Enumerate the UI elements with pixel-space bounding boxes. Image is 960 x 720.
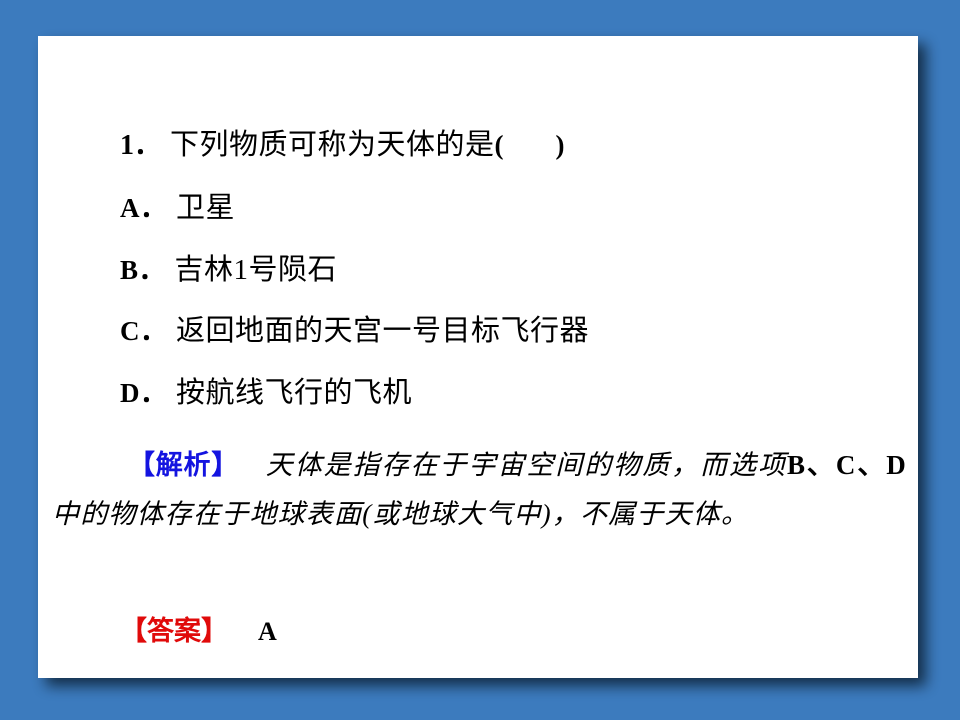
analysis-label: 【解析】 xyxy=(128,450,239,480)
analysis-options-list: B、C、D xyxy=(787,450,907,480)
analysis-text-part2: 中的物体存在于地球表面(或地球大气中)，不属于天体。 xyxy=(52,499,749,529)
analysis-paragraph: 【解析】天体是指存在于宇宙空间的物质，而选项B、C、D中的物体存在于地球表面(或… xyxy=(52,441,907,539)
option-c-marker: C xyxy=(120,316,140,346)
question-number: 1 xyxy=(120,130,134,161)
answer-line: 【答案】A xyxy=(120,614,277,649)
option-d[interactable]: D．按航线飞行的飞机 xyxy=(120,376,412,410)
question-paren-open: ( xyxy=(495,130,504,160)
option-b[interactable]: B．吉林1号陨石 xyxy=(120,253,337,287)
content-card-inner: 1．下列物质可称为天体的是() A．卫星 B．吉林1号陨石 C．返回地面的天宫一… xyxy=(38,36,918,678)
slide-root: 1．下列物质可称为天体的是() A．卫星 B．吉林1号陨石 C．返回地面的天宫一… xyxy=(0,0,960,720)
option-b-text: 吉林1号陨石 xyxy=(175,254,338,286)
option-d-dot: ． xyxy=(140,378,176,408)
option-a-marker: A xyxy=(120,193,140,223)
option-d-text: 按航线飞行的飞机 xyxy=(176,377,412,409)
analysis-text-part1: 天体是指存在于宇宙空间的物质，而选项 xyxy=(265,450,787,480)
option-d-marker: D xyxy=(120,378,140,408)
option-c[interactable]: C．返回地面的天宫一号目标飞行器 xyxy=(120,314,589,348)
option-a-text: 卫星 xyxy=(176,192,235,224)
question-dot: ． xyxy=(134,130,170,160)
option-a-dot: ． xyxy=(140,193,176,223)
option-c-text: 返回地面的天宫一号目标飞行器 xyxy=(176,315,589,347)
question-line: 1．下列物质可称为天体的是() xyxy=(120,128,565,163)
answer-label: 【答案】 xyxy=(120,616,228,646)
answer-value: A xyxy=(258,617,277,646)
content-card: 1．下列物质可称为天体的是() A．卫星 B．吉林1号陨石 C．返回地面的天宫一… xyxy=(38,36,918,678)
option-a[interactable]: A．卫星 xyxy=(120,191,235,225)
option-c-dot: ． xyxy=(140,316,176,346)
question-paren-close: ) xyxy=(556,130,565,160)
option-b-dot: ． xyxy=(139,255,175,285)
option-b-marker: B xyxy=(120,255,139,285)
question-text: 下列物质可称为天体的是 xyxy=(170,129,495,161)
